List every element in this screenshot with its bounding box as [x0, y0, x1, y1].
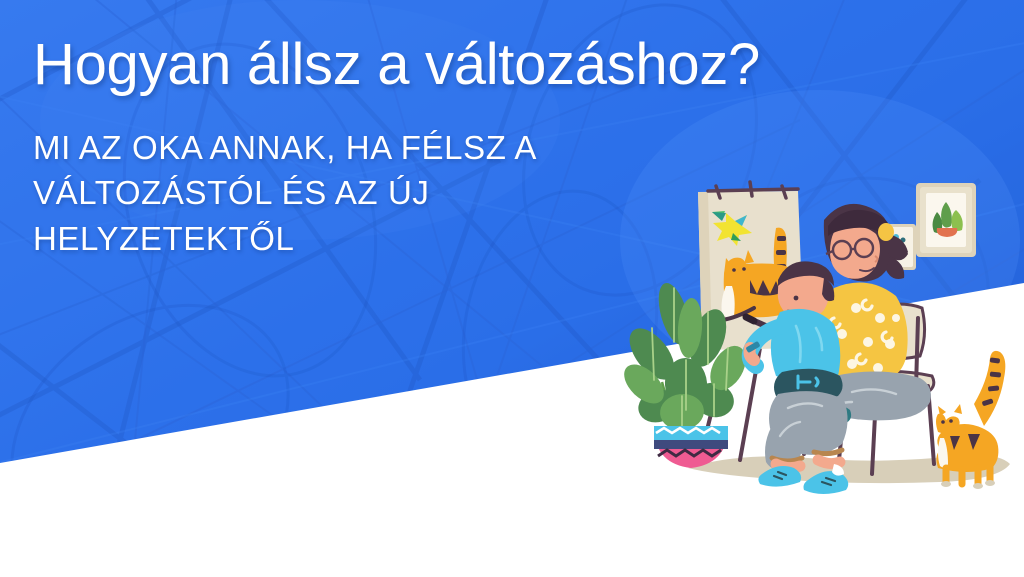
- promo-banner: Hogyan állsz a változáshoz? MI AZ OKA AN…: [0, 0, 1024, 577]
- mother-and-child-painting-illustration: [628, 168, 1024, 508]
- page-subtitle: MI AZ OKA ANNAK, HA FÉLSZ A VÁLTOZÁSTÓL …: [33, 125, 633, 262]
- page-title: Hogyan állsz a változáshoz?: [33, 34, 673, 97]
- headline-block: Hogyan állsz a változáshoz? MI AZ OKA AN…: [33, 34, 673, 261]
- wall-frame-large-group: [916, 183, 976, 257]
